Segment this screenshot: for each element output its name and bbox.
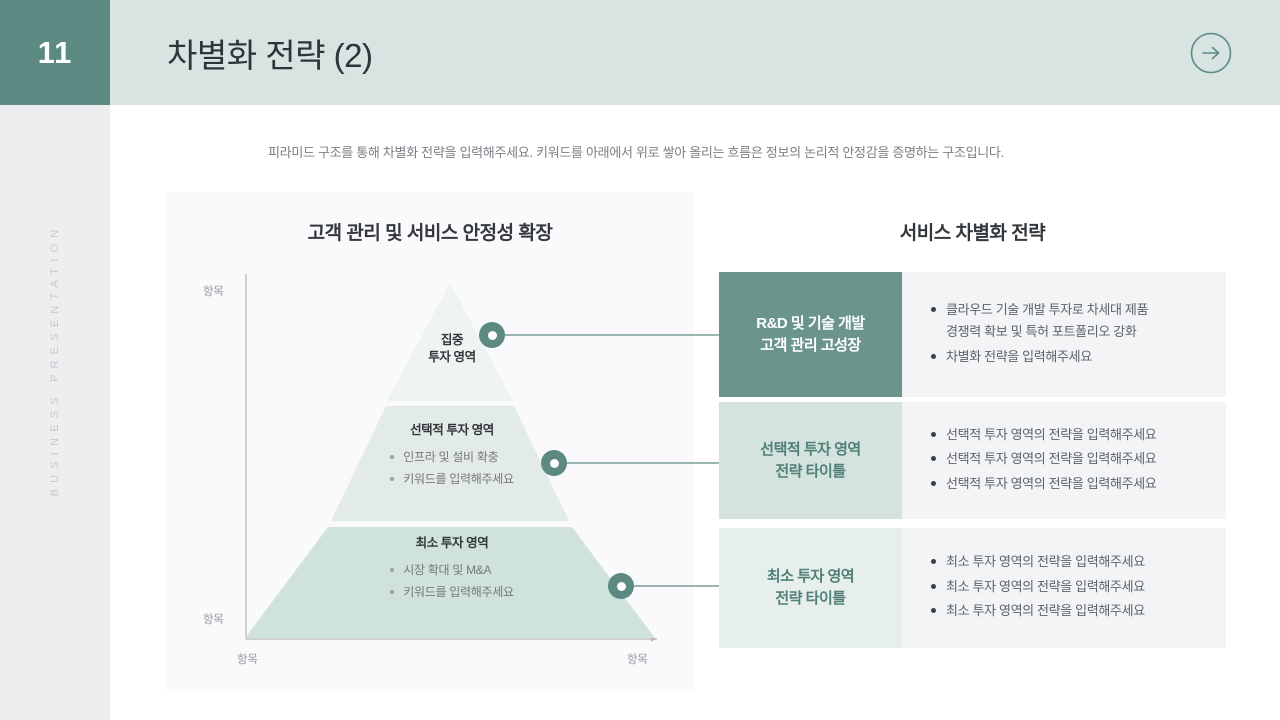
list-item: 선택적 투자 영역의 전략을 입력해주세요 (930, 448, 1208, 470)
strategy-card-1-bullets: 클라우드 기술 개발 투자로 차세대 제품 경쟁력 확보 및 특허 포트폴리오 … (930, 299, 1208, 370)
card-2-label-line2: 전략 타이틀 (775, 461, 845, 483)
subtitle-text: 피라미드 구조를 통해 차별화 전략을 입력해주세요. 키워드를 아래에서 위로… (268, 142, 1004, 161)
card-3-label-line2: 전략 타이틀 (775, 588, 845, 610)
card-3-label-line1: 최소 투자 영역 (767, 566, 854, 588)
strategy-card-2-body: 선택적 투자 영역의 전략을 입력해주세요 선택적 투자 영역의 전략을 입력해… (902, 402, 1226, 519)
arrow-right-circle-icon[interactable] (1190, 32, 1232, 74)
list-item: 인프라 및 설비 확충 (390, 446, 513, 468)
pyramid-labels: 집중 투자 영역 선택적 투자 영역 인프라 및 설비 확충 키워드를 입력해주… (240, 282, 664, 640)
strategy-card-3[interactable]: 최소 투자 영역 전략 타이틀 최소 투자 영역의 전략을 입력해주세요 최소 … (719, 528, 1226, 648)
chart-panel-heading: 고객 관리 및 서비스 안정성 확장 (166, 218, 694, 245)
strategy-card-2-bullets: 선택적 투자 영역의 전략을 입력해주세요 선택적 투자 영역의 전략을 입력해… (930, 424, 1208, 497)
tier-top-title-line1: 집중 (240, 332, 664, 349)
strategy-card-3-body: 최소 투자 영역의 전략을 입력해주세요 최소 투자 영역의 전략을 입력해주세… (902, 528, 1226, 648)
pyramid-tier-top-label: 집중 투자 영역 (240, 332, 664, 366)
list-item: 선택적 투자 영역의 전략을 입력해주세요 (930, 424, 1208, 446)
list-item: 최소 투자 영역의 전략을 입력해주세요 (930, 600, 1208, 622)
strategy-card-3-label: 최소 투자 영역 전략 타이틀 (719, 528, 902, 648)
axis-label-y-top: 항목 (203, 283, 224, 299)
strategy-card-1-body: 클라우드 기술 개발 투자로 차세대 제품 경쟁력 확보 및 특허 포트폴리오 … (902, 272, 1226, 397)
page-title: 차별화 전략 (2) (167, 0, 372, 105)
pyramid-tier-bottom-label: 최소 투자 영역 시장 확대 및 M&A 키워드를 입력해주세요 (240, 535, 664, 603)
card-1-bullet-1b: 경쟁력 확보 및 특허 포트폴리오 강화 (946, 324, 1136, 339)
strategy-card-1[interactable]: R&D 및 기술 개발 고객 관리 고성장 클라우드 기술 개발 투자로 차세대… (719, 272, 1226, 397)
tier-middle-title: 선택적 투자 영역 (240, 422, 664, 439)
card-2-label-line1: 선택적 투자 영역 (760, 439, 860, 461)
strategy-card-3-bullets: 최소 투자 영역의 전략을 입력해주세요 최소 투자 영역의 전략을 입력해주세… (930, 551, 1208, 624)
axis-label-x-left: 항목 (237, 651, 258, 667)
connector-dot-middle[interactable] (541, 450, 567, 476)
axis-label-x-right: 항목 (627, 651, 648, 667)
connector-dot-bottom[interactable] (608, 573, 634, 599)
slide-root: BUSINESS PRESENTATION 11 차별화 전략 (2) 피라미드… (0, 0, 1280, 720)
strategy-card-1-label: R&D 및 기술 개발 고객 관리 고성장 (719, 272, 902, 397)
left-rail: BUSINESS PRESENTATION (0, 0, 110, 720)
rail-vertical-label: BUSINESS PRESENTATION (49, 224, 61, 497)
connector-dot-top[interactable] (479, 322, 505, 348)
tier-middle-bullets: 인프라 및 설비 확충 키워드를 입력해주세요 (390, 446, 513, 490)
page-number-badge: 11 (0, 0, 110, 105)
strategy-card-2-label: 선택적 투자 영역 전략 타이틀 (719, 402, 902, 519)
list-item: 키워드를 입력해주세요 (390, 581, 513, 603)
tier-bottom-bullets: 시장 확대 및 M&A 키워드를 입력해주세요 (390, 559, 513, 603)
list-item: 선택적 투자 영역의 전략을 입력해주세요 (930, 473, 1208, 495)
list-item: 최소 투자 영역의 전략을 입력해주세요 (930, 551, 1208, 573)
tier-top-title-line2: 투자 영역 (240, 349, 664, 366)
page-number: 11 (38, 35, 73, 71)
axis-label-y-bottom: 항목 (203, 611, 224, 627)
tier-bottom-title: 최소 투자 영역 (240, 535, 664, 552)
strategy-card-2[interactable]: 선택적 투자 영역 전략 타이틀 선택적 투자 영역의 전략을 입력해주세요 선… (719, 402, 1226, 519)
list-item: 시장 확대 및 M&A (390, 559, 513, 581)
card-1-label-line1: R&D 및 기술 개발 (756, 313, 865, 335)
list-item: 최소 투자 영역의 전략을 입력해주세요 (930, 576, 1208, 598)
pyramid-tier-middle-label: 선택적 투자 영역 인프라 및 설비 확충 키워드를 입력해주세요 (240, 422, 664, 490)
list-item: 키워드를 입력해주세요 (390, 468, 513, 490)
card-1-label-line2: 고객 관리 고성장 (760, 335, 860, 357)
right-panel-heading: 서비스 차별화 전략 (719, 218, 1226, 245)
list-item: 클라우드 기술 개발 투자로 차세대 제품 경쟁력 확보 및 특허 포트폴리오 … (930, 299, 1208, 344)
list-item: 차별화 전략을 입력해주세요 (930, 346, 1208, 368)
card-1-bullet-1a: 클라우드 기술 개발 투자로 차세대 제품 (946, 302, 1148, 317)
